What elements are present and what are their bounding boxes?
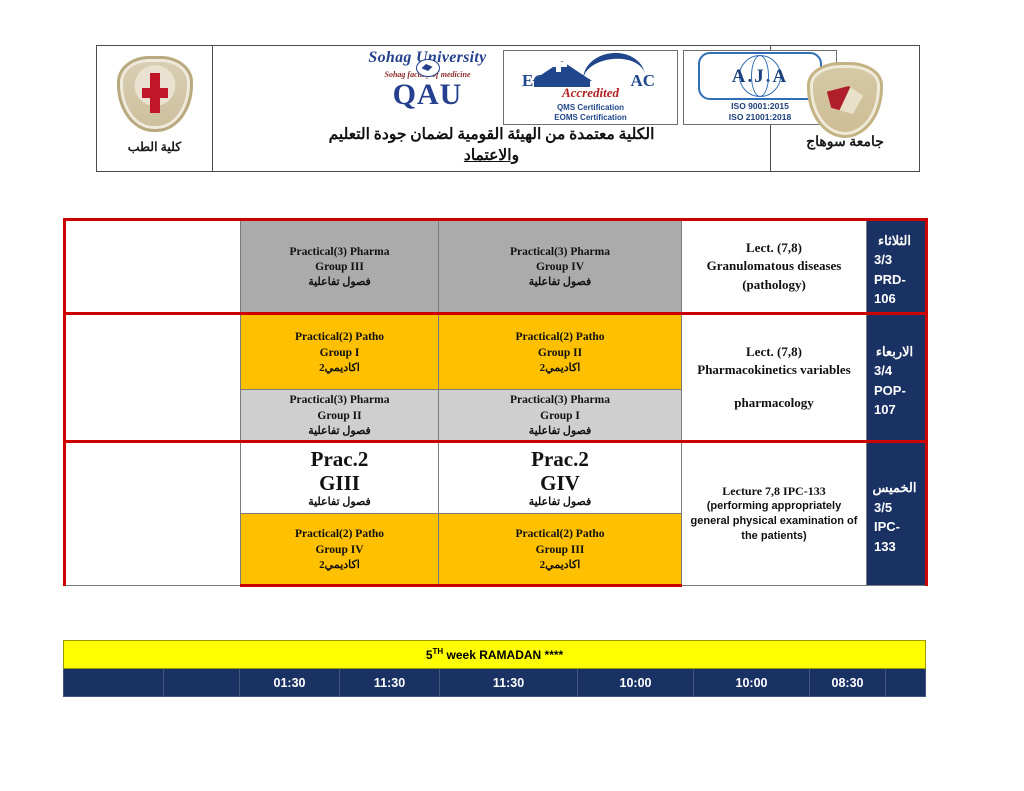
egac-line-1: QMS Certification <box>504 103 677 113</box>
session-location-ar: فصول تفاعلية <box>442 495 678 508</box>
qau-acronym: QAU <box>335 80 520 110</box>
accreditation-header-banner: كلية الطب Sohag University Sohag faculty… <box>96 45 920 172</box>
time-cell-1 <box>64 669 164 697</box>
lecture-line-1: Lecture 7,8 IPC-133 <box>685 484 863 499</box>
table-row: Practical(3) Pharma Group III فصول تفاعل… <box>65 220 927 314</box>
day-date: 3/4 <box>870 361 919 381</box>
row-2-session-1: Practical(2) Patho Group I اكاديمي2 <box>241 314 439 390</box>
sohag-university-logo-icon <box>807 62 883 138</box>
session-group: Group IV <box>442 260 678 275</box>
time-cell-7: 10:00 <box>694 669 810 697</box>
row-3b-session-2: Practical(2) Patho Group III اكاديمي2 <box>439 514 682 586</box>
session-title: Practical(2) Patho <box>442 330 678 345</box>
row-3-lecture-cell: Lecture 7,8 IPC-133 (performing appropri… <box>682 442 867 586</box>
lecture-line-1: Lect. (7,8) <box>685 343 863 361</box>
faculty-of-medicine-logo-icon <box>117 56 193 132</box>
week-banner-row: 5TH week RAMADAN **** <box>64 641 926 669</box>
accreditation-statement: الكلية معتمدة من الهيئة القومية لضمان جو… <box>213 125 770 167</box>
session-location-ar: فصول تفاعلية <box>244 424 435 437</box>
session-title-big-2: GIII <box>244 472 435 496</box>
time-cell-2 <box>164 669 240 697</box>
university-logo-caption: جامعة سوهاج <box>771 134 919 151</box>
row-1-lecture-cell: Lect. (7,8) Granulomatous diseases (path… <box>682 220 867 314</box>
session-location-ar: فصول تفاعلية <box>442 424 678 437</box>
day-name: الخميس <box>870 478 919 498</box>
day-name: الثلاثاء <box>870 231 919 251</box>
session-title-big-2: GIV <box>442 472 678 496</box>
time-cell-4: 11:30 <box>340 669 440 697</box>
row-2b-session-1: Practical(3) Pharma Group II فصول تفاعلي… <box>241 390 439 442</box>
egac-accreditation-logo-icon: EG AC Accredited QMS Certification EOMS … <box>503 50 678 125</box>
table-row: Practical(2) Patho Group I اكاديمي2 Prac… <box>65 314 927 390</box>
university-logo-cell: جامعة سوهاج <box>771 46 919 171</box>
lecture-line-2: Granulomatous diseases <box>685 257 863 275</box>
session-title: Practical(3) Pharma <box>244 393 435 408</box>
lecture-line-3: general physical examination of <box>685 514 863 529</box>
session-title-big-1: Prac.2 <box>442 448 678 472</box>
lecture-line-3: (pathology) <box>685 276 863 294</box>
week-banner-rest: week RAMADAN **** <box>443 648 563 662</box>
session-group: Group II <box>244 409 435 424</box>
egac-glyph-icon: EG AC <box>504 51 677 87</box>
faculty-logo-caption: كلية الطب <box>97 139 212 155</box>
session-group: Group III <box>244 260 435 275</box>
row-2-lecture-cell: Lect. (7,8) Pharmacokinetics variables p… <box>682 314 867 442</box>
weekly-schedule-table: Practical(3) Pharma Group III فصول تفاعل… <box>63 218 928 587</box>
session-title: Practical(3) Pharma <box>244 245 435 260</box>
session-location-ar: فصول تفاعلية <box>244 495 435 508</box>
session-location-ar: اكاديمي2 <box>244 558 435 571</box>
lecture-line-2: Pharmacokinetics variables <box>685 361 863 379</box>
row-1-day-cell: الثلاثاء 3/3 PRD- 106 <box>867 220 927 314</box>
table-row: Prac.2 GIII فصول تفاعلية Prac.2 GIV فصول… <box>65 442 927 514</box>
lecture-line-2: (performing appropriately <box>685 499 863 514</box>
session-location-ar: اكاديمي2 <box>244 361 435 374</box>
day-code-b: 133 <box>870 537 919 557</box>
qau-emblem-icon <box>416 59 440 77</box>
times-row: 01:30 11:30 11:30 10:00 10:00 08:30 <box>64 669 926 697</box>
week-banner-prefix: 5 <box>426 648 433 662</box>
day-name: الاربعاء <box>870 342 919 362</box>
day-code-a: POP- <box>870 381 919 401</box>
egac-mark-right: AC <box>630 71 655 91</box>
day-date: 3/3 <box>870 250 919 270</box>
row-3-session-1: Prac.2 GIII فصول تفاعلية <box>241 442 439 514</box>
row-3-session-2: Prac.2 GIV فصول تفاعلية <box>439 442 682 514</box>
lecture-line-3: pharmacology <box>685 394 863 412</box>
row-2-session-2: Practical(2) Patho Group II اكاديمي2 <box>439 314 682 390</box>
footer-week-table: 5TH week RAMADAN **** 01:30 11:30 11:30 … <box>63 640 926 697</box>
time-cell-3: 01:30 <box>240 669 340 697</box>
accreditation-marks-cell: Sohag University Sohag faculty of medici… <box>213 46 771 171</box>
day-date: 3/5 <box>870 498 919 518</box>
session-location-ar: فصول تفاعلية <box>244 275 435 288</box>
session-title-big-1: Prac.2 <box>244 448 435 472</box>
qau-logo-icon: Sohag University Sohag faculty of medici… <box>335 50 520 120</box>
session-title: Practical(2) Patho <box>244 330 435 345</box>
time-cell-9 <box>886 669 926 697</box>
day-code-b: 106 <box>870 289 919 309</box>
week-banner-sup: TH <box>433 647 444 656</box>
time-cell-5: 11:30 <box>440 669 578 697</box>
session-group: Group IV <box>244 543 435 558</box>
session-group: Group III <box>442 543 678 558</box>
session-title: Practical(2) Patho <box>244 527 435 542</box>
session-group: Group I <box>244 346 435 361</box>
egac-certification-lines: QMS Certification EOMS Certification CAB… <box>504 103 677 125</box>
session-title: Practical(2) Patho <box>442 527 678 542</box>
day-code-a: IPC- <box>870 517 919 537</box>
egac-mark-left: EG <box>522 71 547 91</box>
row-3-blank-cell <box>65 442 241 586</box>
session-title: Practical(3) Pharma <box>442 393 678 408</box>
row-2-blank-cell <box>65 314 241 442</box>
session-group: Group II <box>442 346 678 361</box>
accreditation-statement-line-2: والاعتماد <box>217 146 766 167</box>
faculty-logo-cell: كلية الطب <box>97 46 213 171</box>
session-location-ar: اكاديمي2 <box>442 558 678 571</box>
day-code-a: PRD- <box>870 270 919 290</box>
accreditation-statement-line-1: الكلية معتمدة من الهيئة القومية لضمان جو… <box>217 125 766 146</box>
row-1-blank-cell <box>65 220 241 314</box>
day-code-b: 107 <box>870 400 919 420</box>
egac-line-2: EOMS Certification <box>504 113 677 123</box>
lecture-line-4: the patients) <box>685 529 863 544</box>
row-1-session-1: Practical(3) Pharma Group III فصول تفاعل… <box>241 220 439 314</box>
week-banner-cell: 5TH week RAMADAN **** <box>64 641 926 669</box>
row-2b-session-2: Practical(3) Pharma Group I فصول تفاعلية <box>439 390 682 442</box>
row-1-session-2: Practical(3) Pharma Group IV فصول تفاعلي… <box>439 220 682 314</box>
lecture-line-1: Lect. (7,8) <box>685 239 863 257</box>
time-cell-8: 08:30 <box>810 669 886 697</box>
row-3b-session-1: Practical(2) Patho Group IV اكاديمي2 <box>241 514 439 586</box>
session-location-ar: اكاديمي2 <box>442 361 678 374</box>
session-group: Group I <box>442 409 678 424</box>
time-cell-6: 10:00 <box>578 669 694 697</box>
row-3-day-cell: الخميس 3/5 IPC- 133 <box>867 442 927 586</box>
session-title: Practical(3) Pharma <box>442 245 678 260</box>
session-location-ar: فصول تفاعلية <box>442 275 678 288</box>
row-2-day-cell: الاربعاء 3/4 POP- 107 <box>867 314 927 442</box>
